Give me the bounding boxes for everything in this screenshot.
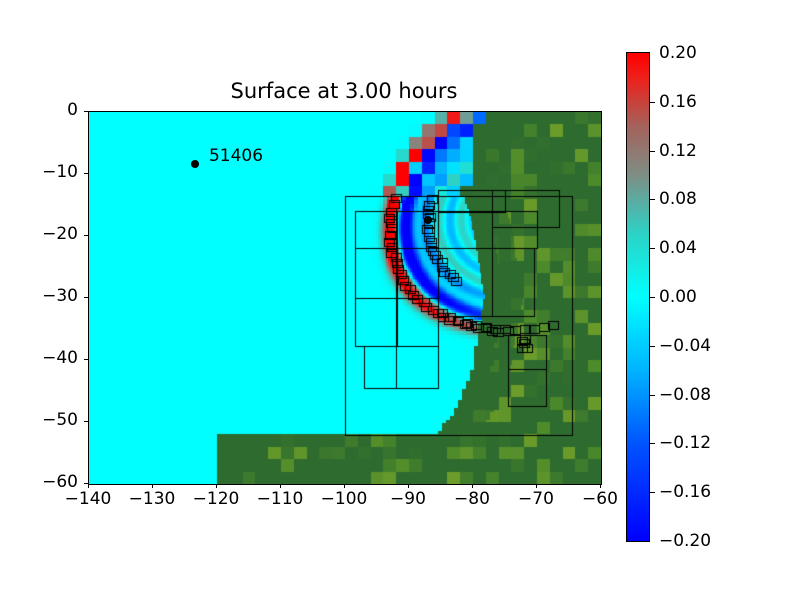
x-axis-tick-label: −80 xyxy=(454,489,490,509)
x-axis-tick-label: −130 xyxy=(129,489,176,509)
colorbar-tick xyxy=(650,102,655,103)
x-axis-tick xyxy=(216,484,217,488)
figure-canvas: Surface at 3.00 hours 0−10−20−30−40−50−6… xyxy=(0,0,800,600)
x-axis-tick-label: −90 xyxy=(390,489,426,509)
x-axis-tick xyxy=(344,484,345,488)
y-axis-tick xyxy=(84,297,88,298)
gauge-label-51406: 51406 xyxy=(209,146,263,166)
y-axis-tick-label: 0 xyxy=(67,100,78,120)
y-axis-tick-label: −10 xyxy=(42,162,78,182)
y-axis-tick-label: −20 xyxy=(42,224,78,244)
colorbar-tick xyxy=(650,297,655,298)
x-axis-tick-label: −110 xyxy=(257,489,304,509)
y-axis-tick xyxy=(84,173,88,174)
x-axis-tick-label: −100 xyxy=(321,489,368,509)
plot-axes[interactable] xyxy=(88,111,602,485)
colorbar-tick xyxy=(650,151,655,152)
x-axis-tick xyxy=(600,484,601,488)
colorbar[interactable]: 0.200.160.120.080.040.00−0.04−0.08−0.12−… xyxy=(626,52,650,542)
gauge-marker-gauge-2[interactable] xyxy=(424,216,432,224)
colorbar-tick xyxy=(650,248,655,249)
colorbar-tick-label: −0.16 xyxy=(659,482,711,502)
colorbar-tick-label: 0.08 xyxy=(659,189,697,209)
colorbar-tick xyxy=(650,492,655,493)
gauge-marker-51406[interactable] xyxy=(191,160,199,168)
x-axis-tick xyxy=(88,484,89,488)
colorbar-tick-label: 0.20 xyxy=(659,43,697,63)
y-axis-tick-label: −50 xyxy=(42,410,78,430)
colorbar-bar xyxy=(626,52,650,542)
surface-heatmap xyxy=(89,112,601,484)
x-axis-tick xyxy=(472,484,473,488)
y-axis-tick xyxy=(84,111,88,112)
y-axis-tick xyxy=(84,421,88,422)
y-axis-tick xyxy=(84,359,88,360)
x-axis-tick-label: −70 xyxy=(518,489,554,509)
x-axis-tick xyxy=(280,484,281,488)
colorbar-tick xyxy=(650,443,655,444)
colorbar-tick xyxy=(650,346,655,347)
colorbar-tick-label: 0.00 xyxy=(659,287,697,307)
y-axis-tick xyxy=(84,235,88,236)
colorbar-tick-label: −0.20 xyxy=(659,531,711,551)
page-title: Surface at 3.00 hours xyxy=(88,79,600,103)
y-axis-tick-label: −40 xyxy=(42,348,78,368)
colorbar-tick-label: −0.04 xyxy=(659,336,711,356)
y-axis-tick-label: −30 xyxy=(42,286,78,306)
colorbar-tick xyxy=(650,199,655,200)
x-axis-tick xyxy=(152,484,153,488)
x-axis-tick-label: −140 xyxy=(65,489,112,509)
colorbar-tick-label: −0.12 xyxy=(659,433,711,453)
x-axis-tick-label: −120 xyxy=(193,489,240,509)
x-axis-tick xyxy=(536,484,537,488)
colorbar-tick-label: −0.08 xyxy=(659,385,711,405)
colorbar-tick-label: 0.04 xyxy=(659,238,697,258)
colorbar-tick xyxy=(650,395,655,396)
colorbar-tick-label: 0.12 xyxy=(659,141,697,161)
colorbar-tick-label: 0.16 xyxy=(659,92,697,112)
colorbar-gradient xyxy=(627,53,649,541)
x-axis-tick-label: −60 xyxy=(582,489,618,509)
x-axis-tick xyxy=(408,484,409,488)
